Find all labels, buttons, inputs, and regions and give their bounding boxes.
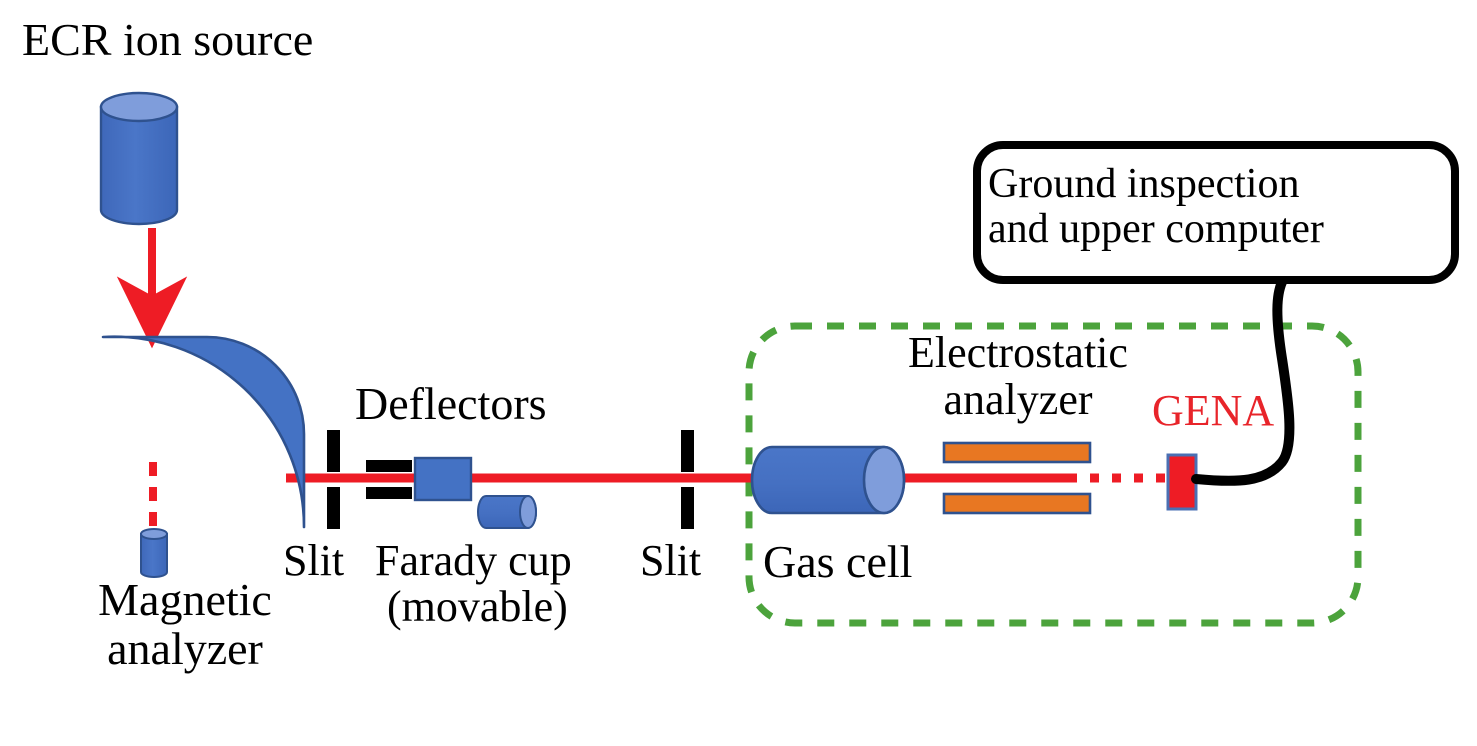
gena-signal-cable	[1196, 282, 1289, 481]
gena-detector	[1168, 455, 1196, 509]
figure-canvas: ECR ion source Magnetic analyzer Slit De…	[0, 0, 1477, 746]
label-slit-2: Slit	[640, 538, 701, 585]
label-ground-computer: Ground inspection and upper computer	[988, 162, 1448, 251]
magnetic-beam-dump	[141, 529, 167, 577]
label-ecr-ion-source: ECR ion source	[22, 16, 313, 65]
label-slit-1: Slit	[283, 538, 344, 585]
deflector-block	[415, 458, 471, 500]
label-magnetic-analyzer: Magnetic analyzer	[55, 576, 315, 674]
faraday-cup	[478, 496, 536, 528]
gas-cell	[752, 447, 904, 513]
magnetic-analyzer	[103, 337, 304, 527]
label-gas-cell: Gas cell	[763, 538, 912, 587]
label-gena: GENA	[1152, 388, 1274, 435]
label-faraday-cup-note: (movable)	[387, 584, 568, 631]
label-electrostatic-analyzer: Electrostatic analyzer	[868, 330, 1168, 423]
label-faraday-cup: Farady cup	[375, 538, 572, 585]
label-deflectors: Deflectors	[355, 380, 547, 429]
ecr-ion-source	[101, 93, 177, 224]
